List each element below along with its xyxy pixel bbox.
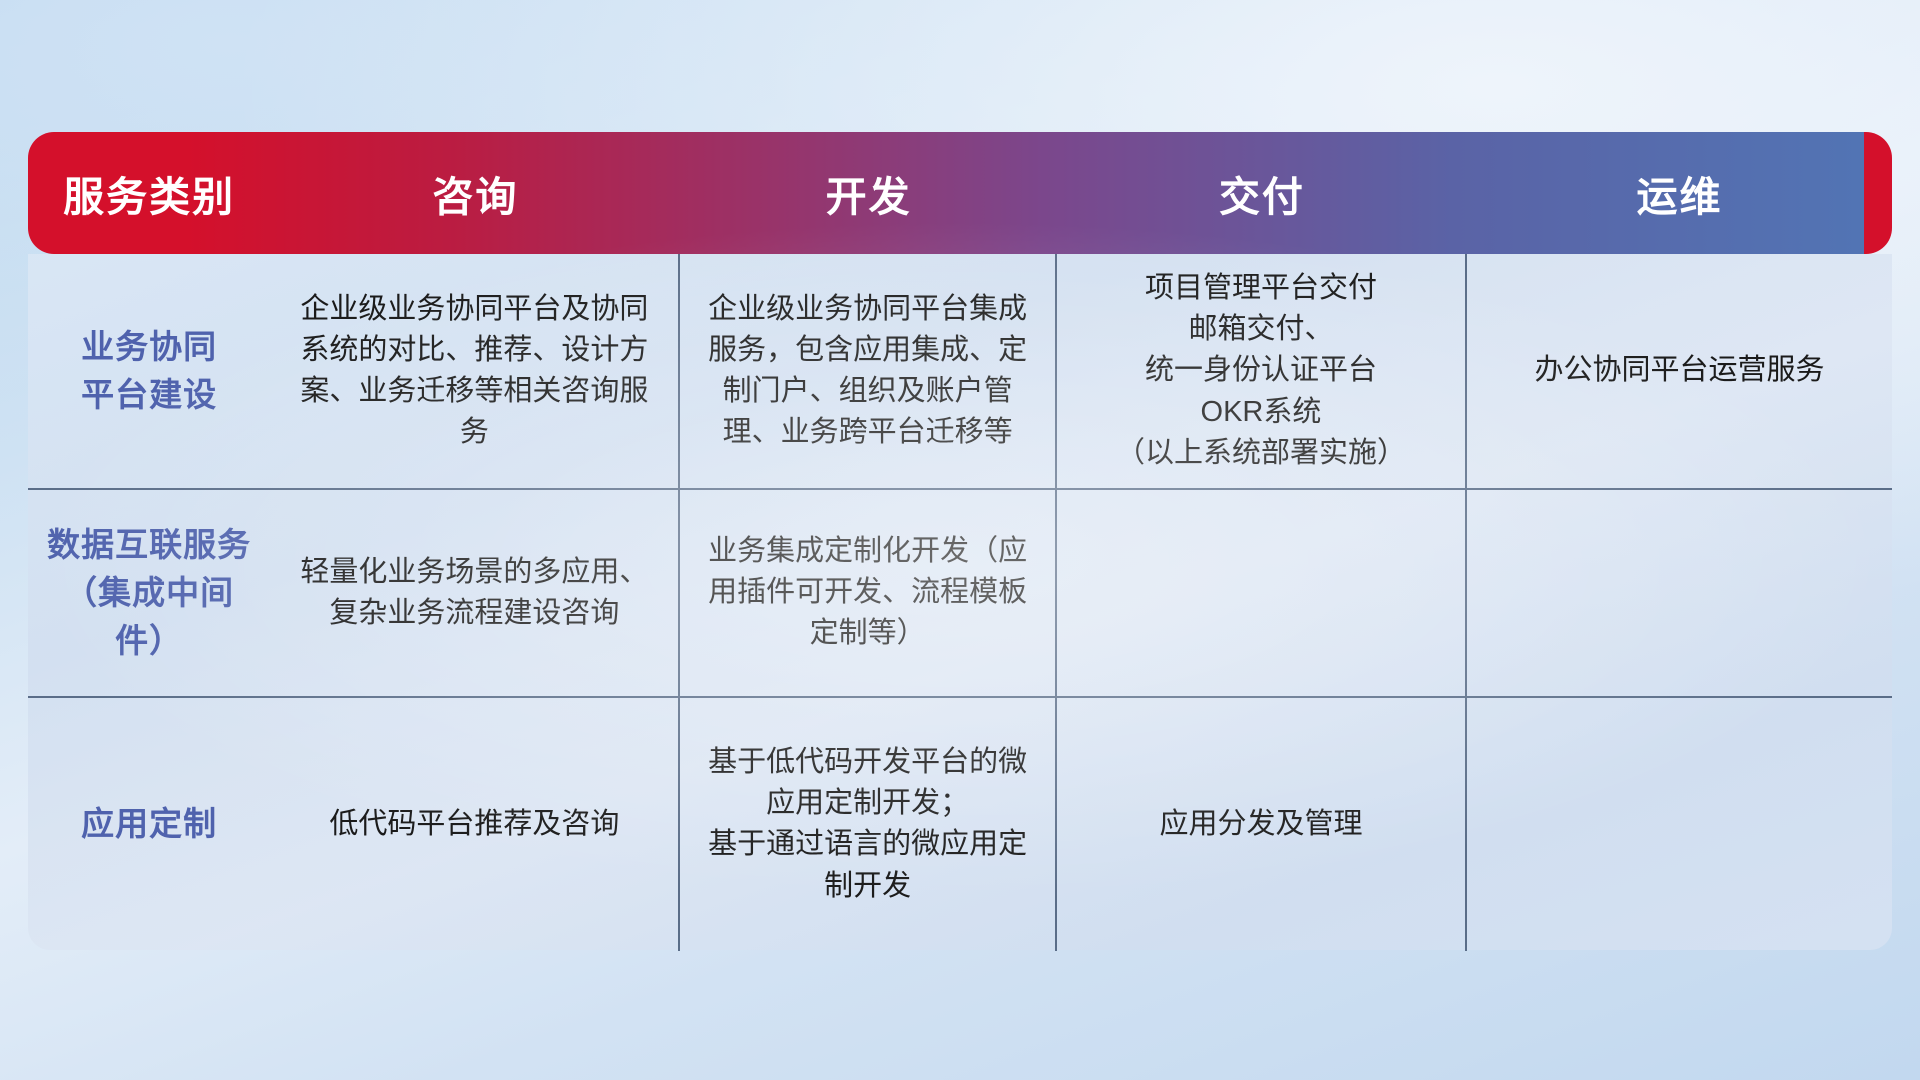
cell-operations-row1: 办公协同平台运营服务 — [1467, 254, 1892, 490]
cell-operations-row3 — [1467, 698, 1892, 951]
table-row: 应用定制 低代码平台推荐及咨询 基于低代码开发平台的微应用定制开发； 基于通过语… — [28, 698, 1892, 951]
cell-delivery-row3: 应用分发及管理 — [1057, 698, 1467, 951]
service-matrix-card: 服务类别 咨询 开发 交付 运维 业务协同 平台建设 企业级业务协同平台及协同系… — [28, 132, 1892, 950]
cell-text: 办公协同平台运营服务 — [1483, 350, 1876, 391]
cell-category-row1: 业务协同 平台建设 — [28, 254, 270, 490]
column-header-development[interactable]: 开发 — [680, 132, 1057, 254]
table-header: 服务类别 咨询 开发 交付 运维 — [28, 132, 1892, 254]
cell-text: 项目管理平台交付 邮箱交付、 统一身份认证平台 OKR系统 （以上系统部署实施） — [1073, 268, 1449, 474]
cell-text: 应用分发及管理 — [1073, 804, 1449, 845]
cell-text: 业务协同 平台建设 — [44, 323, 254, 419]
slide-canvas: 服务类别 咨询 开发 交付 运维 业务协同 平台建设 企业级业务协同平台及协同系… — [0, 0, 1920, 1080]
cell-operations-row2 — [1467, 490, 1892, 698]
cell-consulting-row1: 企业级业务协同平台及协同系统的对比、推荐、设计方案、业务迁移等相关咨询服务 — [270, 254, 680, 490]
cell-text: 数据互联服务 （集成中间件） — [44, 521, 254, 665]
cell-development-row3: 基于低代码开发平台的微应用定制开发； 基于通过语言的微应用定制开发 — [680, 698, 1057, 951]
cell-development-row2: 业务集成定制化开发（应用插件可开发、流程模板定制等） — [680, 490, 1057, 698]
cell-consulting-row2: 轻量化业务场景的多应用、复杂业务流程建设咨询 — [270, 490, 680, 698]
cell-text: 企业级业务协同平台集成服务，包含应用集成、定制门户、组织及账户管理、业务跨平台迁… — [696, 289, 1039, 454]
table-layer: 服务类别 咨询 开发 交付 运维 业务协同 平台建设 企业级业务协同平台及协同系… — [28, 132, 1892, 950]
column-header-delivery[interactable]: 交付 — [1057, 132, 1467, 254]
cell-text: 业务集成定制化开发（应用插件可开发、流程模板定制等） — [696, 531, 1039, 655]
cell-text: 轻量化业务场景的多应用、复杂业务流程建设咨询 — [286, 552, 662, 634]
column-header-operations[interactable]: 运维 — [1467, 132, 1892, 254]
table-row: 数据互联服务 （集成中间件） 轻量化业务场景的多应用、复杂业务流程建设咨询 业务… — [28, 490, 1892, 698]
cell-delivery-row1: 项目管理平台交付 邮箱交付、 统一身份认证平台 OKR系统 （以上系统部署实施） — [1057, 254, 1467, 490]
cell-category-row2: 数据互联服务 （集成中间件） — [28, 490, 270, 698]
cell-development-row1: 企业级业务协同平台集成服务，包含应用集成、定制门户、组织及账户管理、业务跨平台迁… — [680, 254, 1057, 490]
table-body: 业务协同 平台建设 企业级业务协同平台及协同系统的对比、推荐、设计方案、业务迁移… — [28, 254, 1892, 951]
cell-text: 基于低代码开发平台的微应用定制开发； 基于通过语言的微应用定制开发 — [696, 742, 1039, 907]
column-header-consulting[interactable]: 咨询 — [270, 132, 680, 254]
cell-delivery-row2 — [1057, 490, 1467, 698]
column-header-category[interactable]: 服务类别 — [28, 132, 270, 254]
table-row: 业务协同 平台建设 企业级业务协同平台及协同系统的对比、推荐、设计方案、业务迁移… — [28, 254, 1892, 490]
cell-category-row3: 应用定制 — [28, 698, 270, 951]
cell-text: 应用定制 — [44, 800, 254, 848]
service-matrix-table: 服务类别 咨询 开发 交付 运维 业务协同 平台建设 企业级业务协同平台及协同系… — [28, 132, 1892, 951]
cell-text: 低代码平台推荐及咨询 — [286, 804, 662, 845]
header-row: 服务类别 咨询 开发 交付 运维 — [28, 132, 1892, 254]
cell-consulting-row3: 低代码平台推荐及咨询 — [270, 698, 680, 951]
cell-text: 企业级业务协同平台及协同系统的对比、推荐、设计方案、业务迁移等相关咨询服务 — [286, 289, 662, 454]
